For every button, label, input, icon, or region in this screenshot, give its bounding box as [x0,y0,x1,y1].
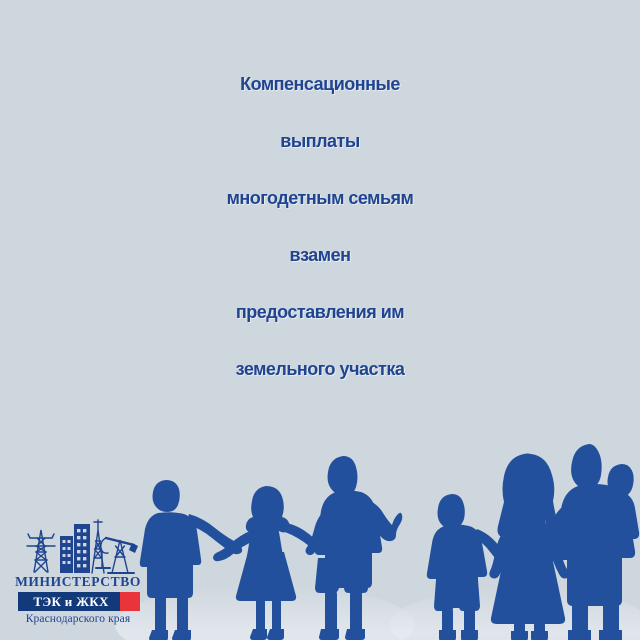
logo-accent-square [120,592,140,611]
headline-line-6: земельного участка [0,341,640,398]
power-pylon-icon [27,530,55,572]
logo-band: ТЭК и ЖКХ [18,592,140,611]
ministry-logo: МИНИСТЕРСТВО ТЭК и ЖКХ Краснодарского кр… [8,512,148,634]
logo-ministry-label: МИНИСТЕРСТВО [8,574,148,590]
headline-line-3: многодетным семьям [0,170,640,227]
headline-line-1: Компенсационные [0,56,640,113]
headline-line-4: взамен [0,227,640,284]
page-title: Компенсационные выплаты многодетным семь… [0,56,640,398]
oil-pumpjack-icon [92,520,138,573]
headline-line-2: выплаты [0,113,640,170]
city-buildings-icon [60,524,90,573]
poster-canvas: Компенсационные выплаты многодетным семь… [0,0,640,640]
logo-region-label: Краснодарского края [8,613,148,625]
headline-line-5: предоставления им [0,284,640,341]
logo-artwork [20,512,138,574]
logo-band-label: ТЭК и ЖКХ [18,594,120,610]
